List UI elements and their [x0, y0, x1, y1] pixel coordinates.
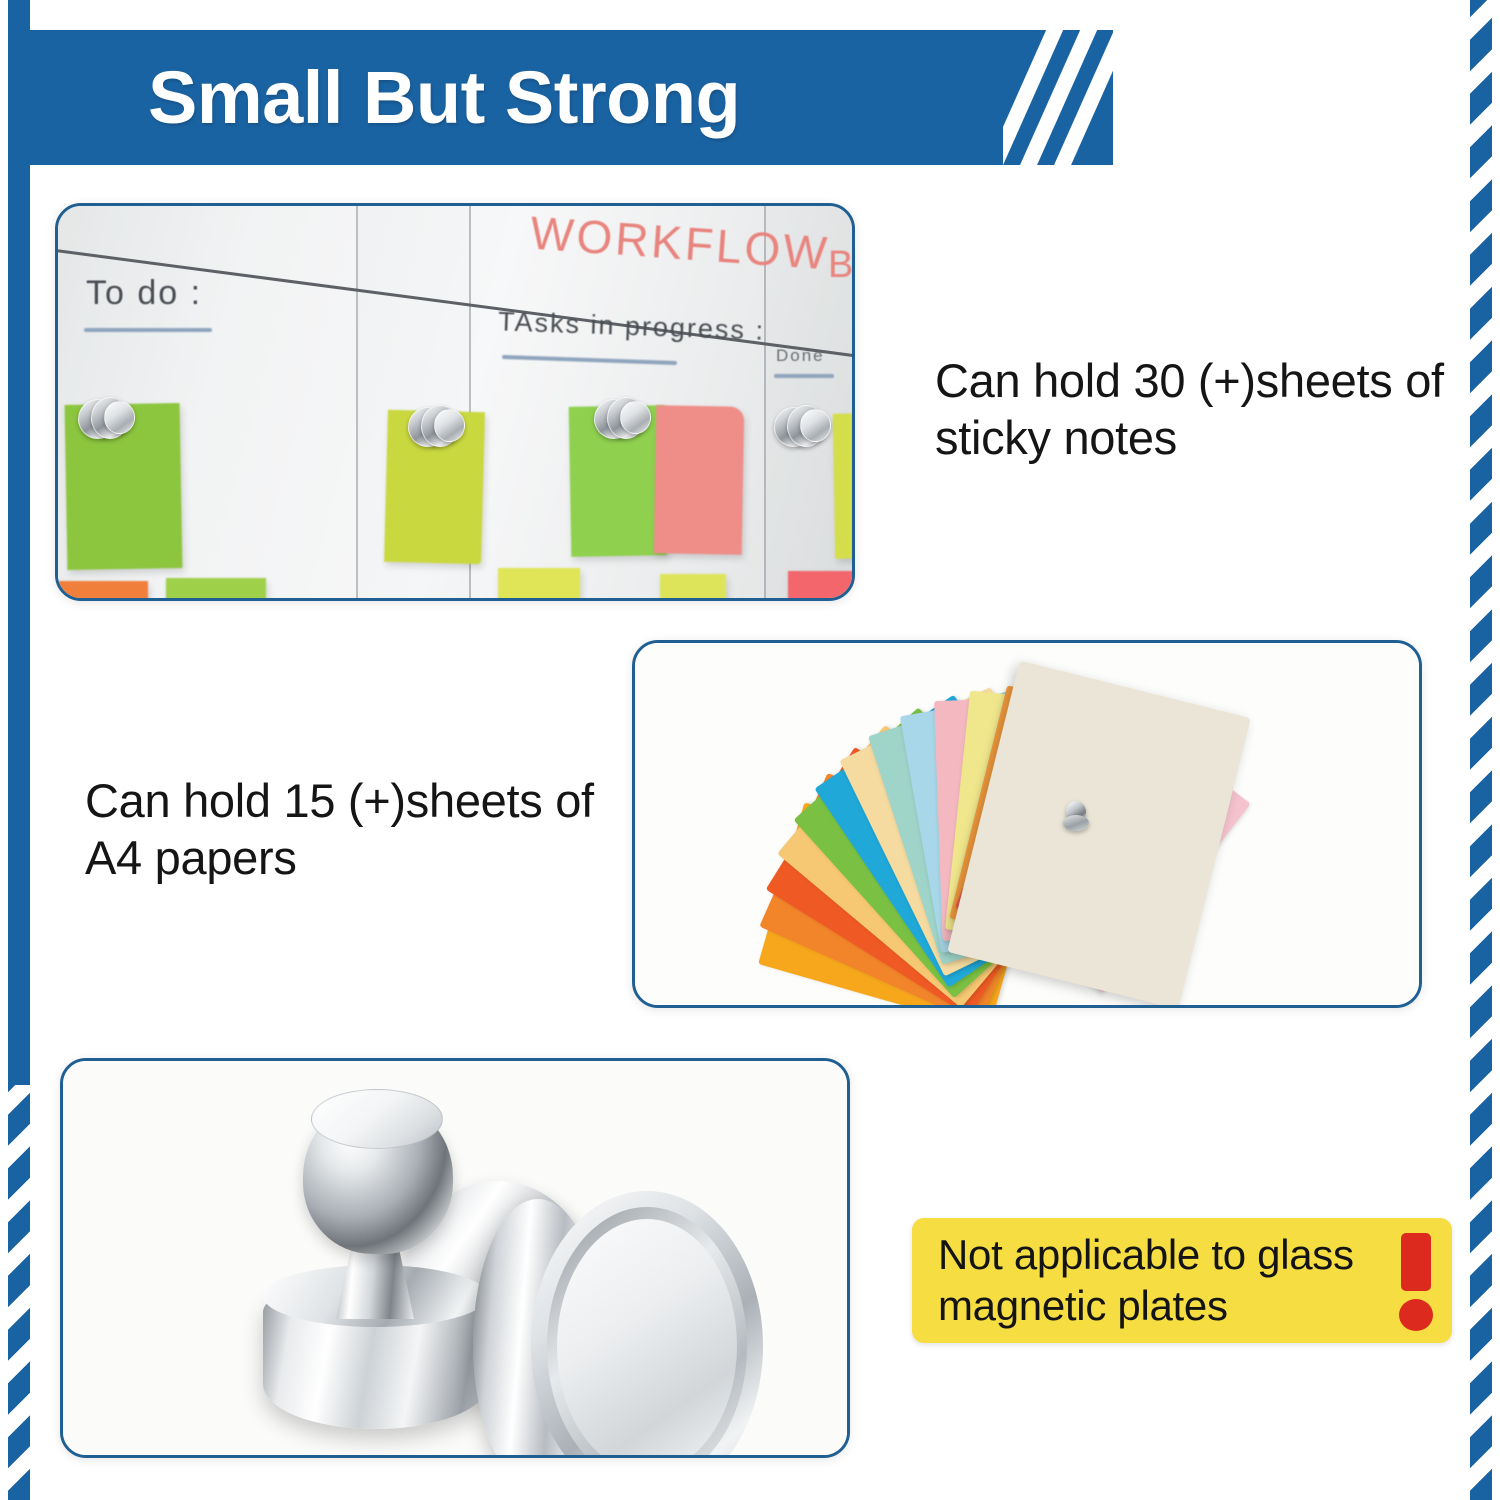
whiteboard-done-label: Done — [776, 346, 825, 366]
magnet-pin-icon — [594, 396, 652, 442]
infographic-page: Small But Strong To do : TAsks in progre… — [0, 0, 1500, 1500]
warning-box: Not applicable to glass magnetic plates — [912, 1218, 1452, 1343]
sticky-note — [166, 578, 266, 601]
feature-text-sticky-notes: Can hold 30 (+)sheets of sticky notes — [935, 352, 1455, 467]
right-edge-stripe-pattern — [1470, 0, 1492, 1500]
feature-text-line-1: Can hold 15 (+)sheets of — [85, 772, 605, 829]
exclamation-icon — [1394, 1233, 1438, 1329]
disc-magnet — [473, 1191, 783, 1458]
paper-fan-photo — [635, 643, 1419, 1005]
whiteboard-partial-label: Bo — [828, 244, 855, 287]
banner-diagonal-stripes — [1003, 30, 1113, 165]
sticky-note — [833, 412, 855, 559]
warning-text: Not applicable to glass magnetic plates — [938, 1230, 1388, 1331]
sticky-note — [654, 405, 745, 555]
warning-text-line-1: Not applicable to glass — [938, 1230, 1388, 1280]
magnet-pin-icon — [78, 396, 136, 442]
feature-text-a4-papers: Can hold 15 (+)sheets of A4 papers — [85, 772, 605, 887]
product-photo — [63, 1061, 847, 1455]
header-banner: Small But Strong — [8, 30, 1113, 165]
whiteboard-todo-label: To do : — [86, 274, 202, 313]
sticky-note — [660, 574, 726, 601]
feature-text-line-2: sticky notes — [935, 409, 1455, 466]
warning-text-line-2: magnetic plates — [938, 1281, 1388, 1331]
sticky-note — [498, 568, 580, 601]
magnet-pin-icon — [408, 404, 466, 450]
whiteboard-photo: To do : TAsks in progress : WORKFLOW Bo … — [58, 206, 852, 598]
photo-card-product — [60, 1058, 850, 1458]
feature-text-line-1: Can hold 30 (+)sheets of — [935, 352, 1455, 409]
feature-text-line-2: A4 papers — [85, 829, 605, 886]
magnet-pin-icon — [774, 404, 832, 450]
magnet-pin-icon — [1063, 801, 1089, 831]
photo-card-whiteboard: To do : TAsks in progress : WORKFLOW Bo … — [55, 203, 855, 601]
page-title: Small But Strong — [8, 61, 740, 135]
photo-card-paper-fan — [632, 640, 1422, 1008]
sticky-note — [58, 581, 148, 601]
left-edge-stripe-pattern — [8, 1085, 30, 1500]
sticky-note — [788, 571, 855, 601]
